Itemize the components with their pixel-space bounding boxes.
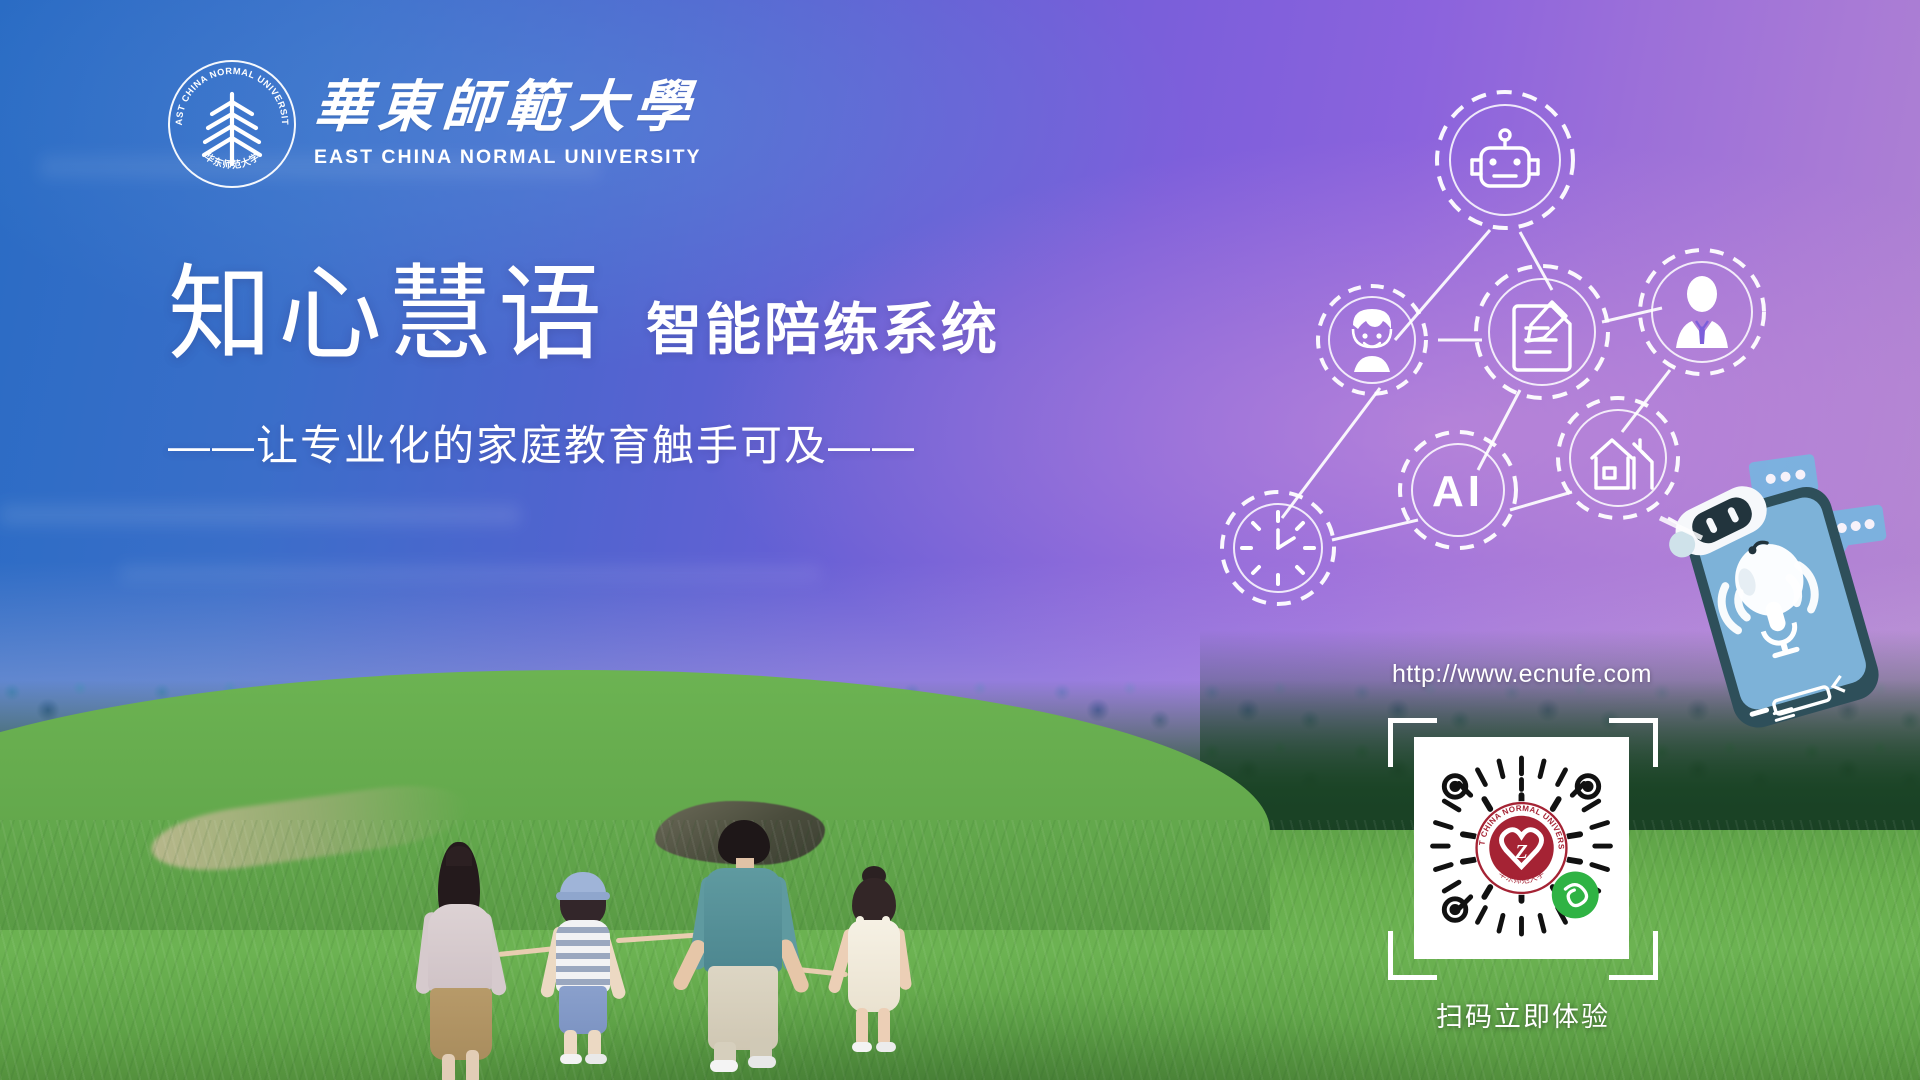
smartphone [1658, 460, 1885, 739]
person-mother [420, 842, 508, 1062]
network-node-clock [1222, 492, 1334, 604]
website-url[interactable]: http://www.ecnufe.com [1392, 660, 1652, 689]
cloud-streak [120, 560, 820, 586]
svg-text:Z: Z [1514, 841, 1528, 863]
network-node-robot [1437, 92, 1573, 228]
network-ai-label: AI [1432, 467, 1484, 516]
logo-name-cn: 華東師範大學 [312, 80, 703, 136]
network-node-document [1476, 266, 1608, 398]
hero-tagline: ——让专业化的家庭教育触手可及—— [168, 412, 916, 473]
hero-headline: 知心慧语 智能陪练系统 [168, 262, 1000, 366]
logo-name-en: EAST CHINA NORMAL UNIVERSITY [314, 146, 702, 169]
qr-code-image[interactable]: Z EAST CHINA NORMAL UNIVERSITY 华东师范大学 [1414, 737, 1629, 959]
university-logo: EAST CHINA NORMAL UNIVERSITY 华东师范大学 華東師範… [168, 60, 702, 188]
person-boy [548, 872, 622, 1062]
phone-voice-robot-illustration [1660, 450, 1920, 710]
cloud-streak [0, 500, 520, 530]
promo-poster: EAST CHINA NORMAL UNIVERSITY 华东师范大学 華東師範… [0, 0, 1920, 1080]
ecnu-seal-icon: EAST CHINA NORMAL UNIVERSITY 华东师范大学 [168, 60, 296, 188]
hero-title: 知心慧语 [168, 262, 608, 366]
qr-code-block[interactable]: Z EAST CHINA NORMAL UNIVERSITY 华东师范大学 [1388, 718, 1658, 980]
network-node-teacher [1640, 250, 1764, 374]
person-father [698, 820, 794, 1062]
hero-subtitle: 智能陪练系统 [646, 302, 1000, 366]
network-node-child [1318, 286, 1426, 394]
qr-caption: 扫码立即体验 [1388, 995, 1658, 1034]
person-girl [838, 866, 910, 1062]
wechat-miniprogram-icon [1552, 871, 1599, 918]
family-of-four [420, 812, 920, 1062]
network-node-ai: AI [1400, 432, 1516, 548]
